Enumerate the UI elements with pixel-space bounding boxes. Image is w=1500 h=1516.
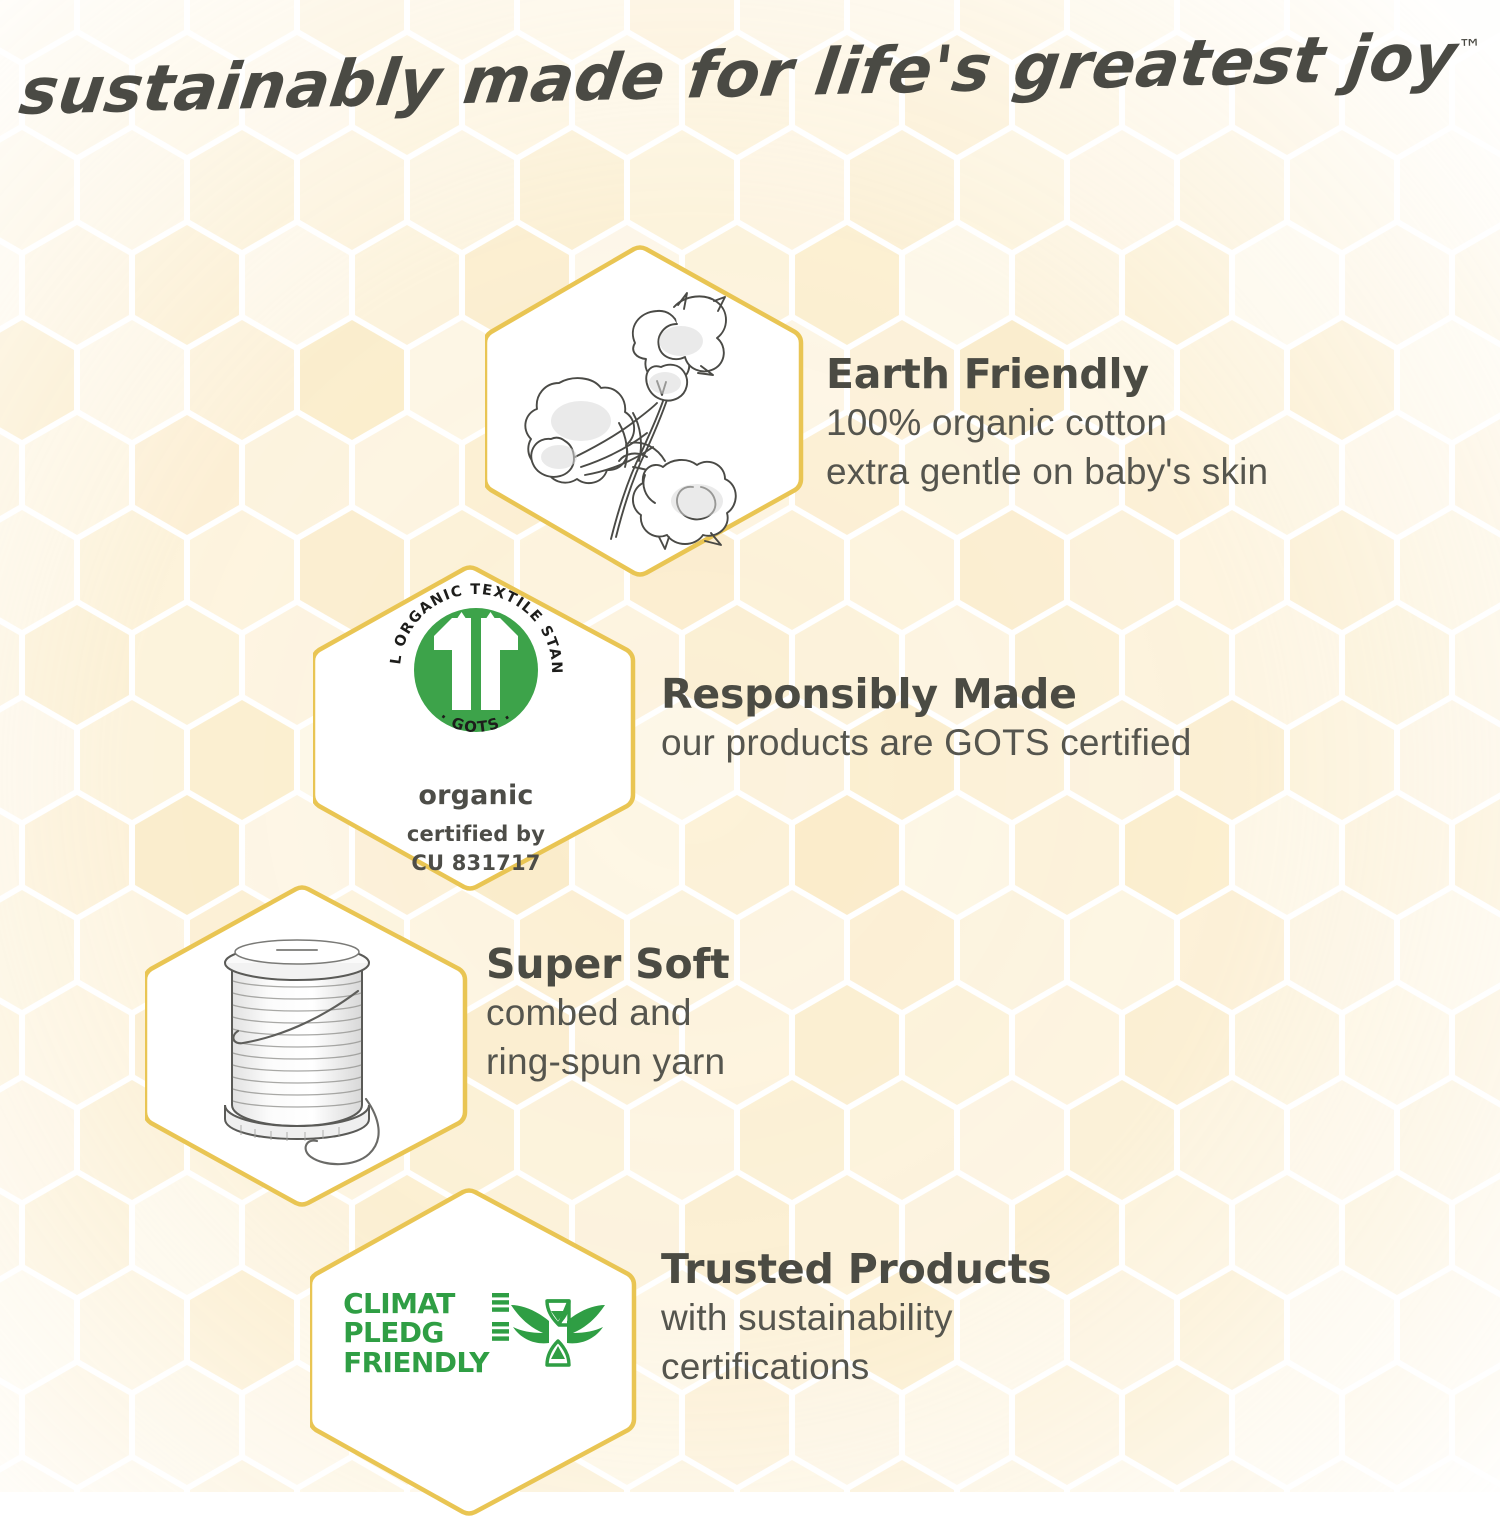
feature-line: ring-spun yarn [486, 1037, 730, 1086]
cpf-line-3: FRIENDLY [343, 1348, 489, 1377]
feature-hexagon-earth-friendly [485, 243, 807, 579]
gots-certifier-code: CU 831717 [411, 850, 540, 877]
winged-hourglass-icon [509, 1293, 607, 1373]
feature-text-responsibly-made: Responsibly Made our products are GOTS c… [661, 672, 1192, 767]
feature-line: our products are GOTS certified [661, 718, 1192, 767]
tagline-container: sustainably made for life's greatest joy… [0, 38, 1500, 112]
feature-title: Earth Friendly [826, 352, 1268, 398]
feature-hexagon-trusted-products: CLIMAT PLEDG FRIENDLY [310, 1186, 640, 1516]
climate-pledge-wordmark: CLIMAT PLEDG FRIENDLY [343, 1289, 489, 1376]
feature-title: Super Soft [486, 942, 730, 988]
feature-line: certifications [661, 1342, 1051, 1391]
feature-title: Trusted Products [661, 1247, 1051, 1293]
cotton-plant-icon [515, 271, 777, 551]
thread-spool-icon [183, 919, 433, 1174]
feature-hexagon-responsibly-made: GLOBAL ORGANIC TEXTILE STANDARD · GOTS ·… [313, 563, 639, 893]
trademark-symbol: ™ [1457, 34, 1482, 63]
cpf-line-2: PLEDG [343, 1318, 489, 1347]
gots-organic-label: organic [418, 780, 533, 811]
feature-title: Responsibly Made [661, 672, 1192, 718]
cpf-bars-icon [492, 1293, 509, 1313]
climate-pledge-friendly-icon: CLIMAT PLEDG FRIENDLY [343, 1289, 607, 1376]
gots-certification-icon: GLOBAL ORGANIC TEXTILE STANDARD · GOTS ·… [378, 572, 574, 877]
cpf-line-1: CLIMAT [343, 1289, 489, 1318]
feature-hexagon-super-soft [145, 883, 471, 1209]
cpf-bars-icon [492, 1322, 509, 1342]
feature-line: extra gentle on baby's skin [826, 447, 1268, 496]
tagline: sustainably made for life's greatest joy… [15, 20, 1485, 130]
tagline-text: sustainably made for life's greatest joy [15, 21, 1461, 130]
feature-text-trusted-products: Trusted Products with sustainability cer… [661, 1247, 1051, 1391]
feature-line: 100% organic cotton [826, 398, 1268, 447]
gots-certified-by-label: certified by [407, 821, 545, 848]
feature-line: with sustainability [661, 1293, 1051, 1342]
feature-line: combed and [486, 988, 730, 1037]
feature-text-super-soft: Super Soft combed and ring-spun yarn [486, 942, 730, 1086]
feature-text-earth-friendly: Earth Friendly 100% organic cotton extra… [826, 352, 1268, 496]
